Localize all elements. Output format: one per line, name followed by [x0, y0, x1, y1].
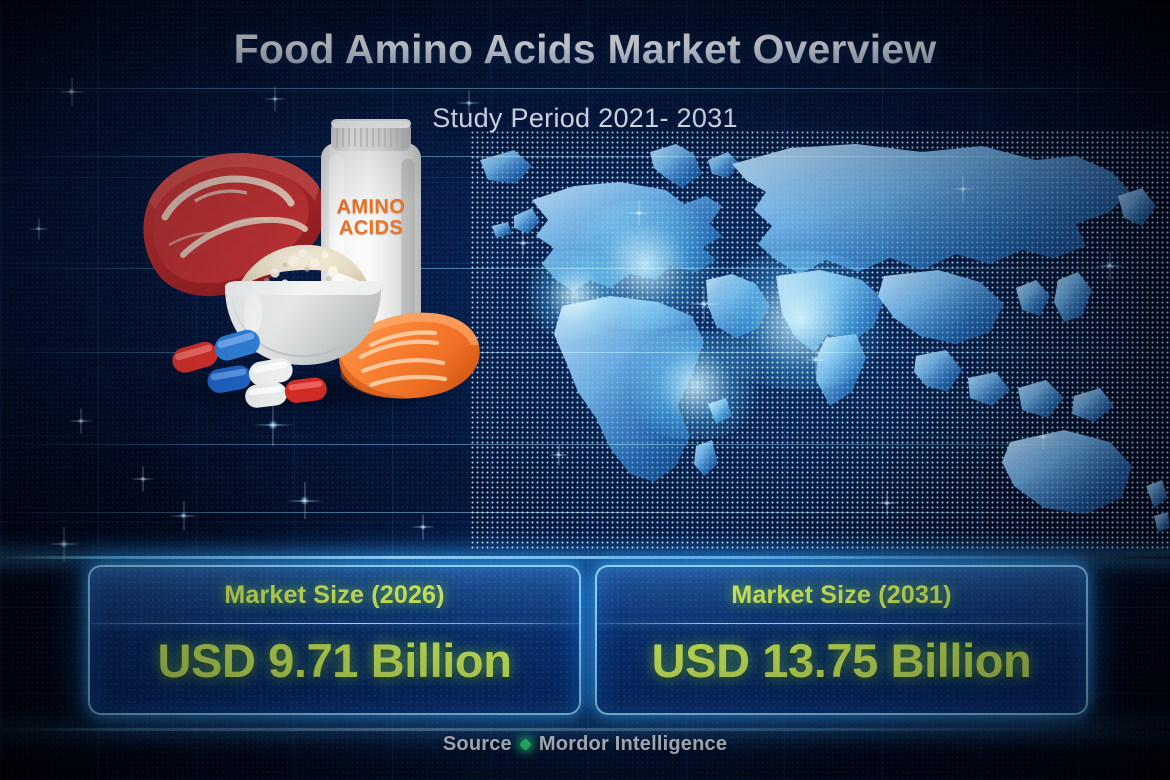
stat-card-2031[interactable]: Market Size (2031) USD 13.75 Billion — [595, 565, 1088, 715]
source-attribution: Source Mordor Intelligence — [0, 733, 1170, 756]
background-light-streak — [0, 556, 1170, 559]
stat-value-2031: USD 13.75 Billion — [597, 633, 1086, 688]
background-light-streak — [0, 728, 1170, 731]
diamond-separator-icon — [519, 738, 532, 751]
market-size-stat-row: Market Size (2026) USD 9.71 Billion Mark… — [88, 565, 1088, 715]
map-glow — [620, 330, 770, 440]
source-name: Mordor Intelligence — [539, 733, 727, 756]
food-imagery-group: AMINO ACIDS — [135, 105, 480, 405]
background-hline — [0, 88, 1170, 89]
steak-shape — [143, 153, 325, 296]
stat-label-2031: Market Size (2031) — [597, 581, 1086, 610]
bottle-label-line1: AMINO — [337, 196, 406, 218]
card-divider — [90, 623, 579, 624]
stat-value-2026: USD 9.71 Billion — [90, 633, 579, 688]
source-label: Source — [443, 733, 512, 756]
map-glow — [520, 250, 630, 340]
bottle-label-text: AMINO ACIDS — [313, 197, 429, 239]
infographic-canvas: Food Amino Acids Market Overview Study P… — [0, 0, 1170, 780]
bottle-label-line2: ACIDS — [339, 217, 403, 239]
page-title: Food Amino Acids Market Overview — [0, 26, 1170, 73]
card-divider — [597, 623, 1086, 624]
stat-label-2026: Market Size (2026) — [90, 581, 579, 610]
stat-card-2026[interactable]: Market Size (2026) USD 9.71 Billion — [88, 565, 581, 715]
